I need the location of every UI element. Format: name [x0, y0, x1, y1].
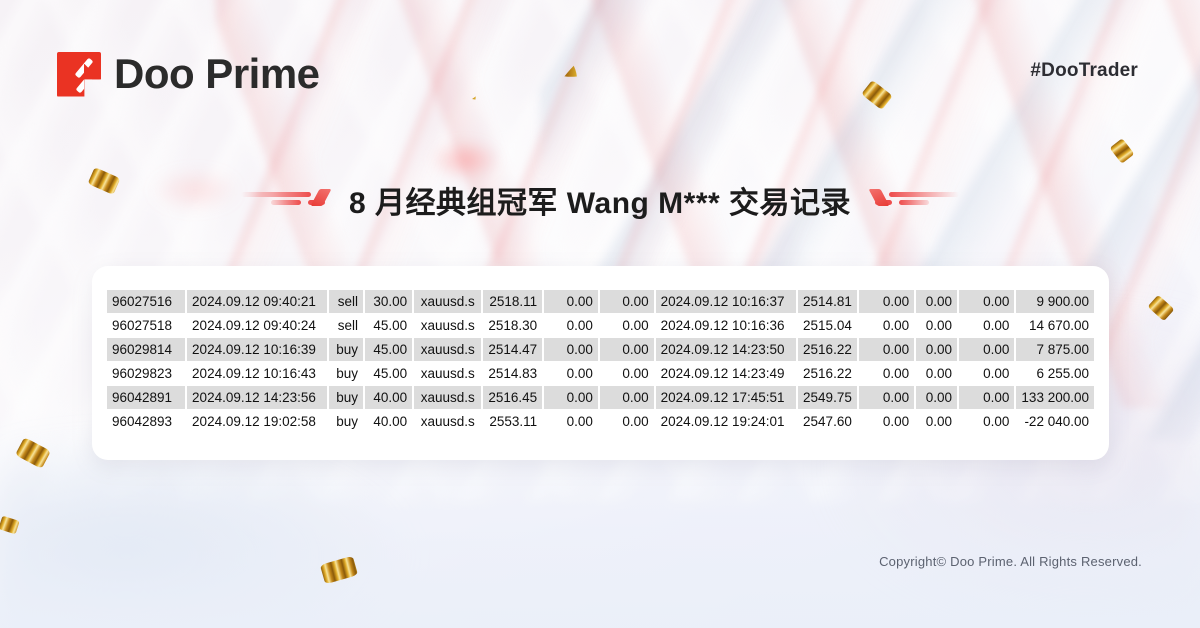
cell-symbol: xauusd.s — [414, 338, 481, 361]
cell-type: sell — [329, 290, 363, 313]
cell-commission: 0.00 — [859, 338, 914, 361]
cell-swap: 0.00 — [959, 314, 1014, 337]
confetti-shape — [861, 80, 893, 110]
confetti-shape — [1110, 138, 1135, 164]
gold-ribbon-strip-10 — [15, 437, 51, 469]
gold-ribbon-strip-5 — [1110, 138, 1135, 164]
red-glow-spot — [430, 140, 500, 180]
confetti-shape — [27, 449, 57, 477]
cell-open-price: 2514.83 — [483, 362, 542, 385]
cell-type: buy — [329, 410, 363, 433]
doo-prime-mark-icon — [57, 52, 101, 97]
confetti-shape — [15, 437, 51, 469]
table-row: 960428912024.09.12 14:23:56buy40.00xauus… — [107, 386, 1094, 409]
cell-ticket: 96027516 — [107, 290, 185, 313]
cell-symbol: xauusd.s — [414, 314, 481, 337]
cell-ticket: 96042891 — [107, 386, 185, 409]
cell-close-time: 2024.09.12 19:24:01 — [656, 410, 796, 433]
cell-open-price: 2518.30 — [483, 314, 542, 337]
title-decoration-left-icon — [241, 187, 325, 213]
cell-open-time: 2024.09.12 09:40:24 — [187, 314, 327, 337]
cell-ticket: 96027518 — [107, 314, 185, 337]
gold-ribbon-curl-6 — [1067, 226, 1100, 253]
gold-ribbon-curl-15 — [338, 569, 364, 592]
cell-taxes: 0.00 — [916, 338, 957, 361]
cell-close-price: 2549.75 — [798, 386, 857, 409]
brand-logo: Doo Prime — [57, 50, 320, 98]
page-title: 8 月经典组冠军 Wang M*** 交易记录 — [349, 178, 851, 222]
cell-t-p: 0.00 — [600, 290, 654, 313]
confetti-shape — [436, 60, 480, 99]
trade-history-table: 960275162024.09.12 09:40:21sell30.00xauu… — [105, 289, 1096, 434]
cell-s-l: 0.00 — [544, 386, 598, 409]
table-row: 960428932024.09.12 19:02:58buy40.00xauus… — [107, 410, 1094, 433]
cell-volume: 45.00 — [365, 314, 412, 337]
copyright-text: Copyright© Doo Prime. All Rights Reserve… — [879, 554, 1142, 569]
table-row: 960275182024.09.12 09:40:24sell45.00xauu… — [107, 314, 1094, 337]
cell-swap: 0.00 — [959, 410, 1014, 433]
cell-ticket: 96029814 — [107, 338, 185, 361]
gold-ribbon-curl-11 — [27, 449, 57, 477]
cell-close-time: 2024.09.12 10:16:37 — [656, 290, 796, 313]
cell-t-p: 0.00 — [600, 362, 654, 385]
cell-close-price: 2516.22 — [798, 362, 857, 385]
gold-ribbon-curl-13 — [56, 561, 79, 594]
cell-symbol: xauusd.s — [414, 386, 481, 409]
cell-open-price: 2514.47 — [483, 338, 542, 361]
cell-s-l: 0.00 — [544, 410, 598, 433]
cell-open-price: 2518.11 — [483, 290, 542, 313]
confetti-shape — [1155, 464, 1191, 497]
cell-profit: 6 255.00 — [1016, 362, 1094, 385]
gold-ribbon-strip-12 — [0, 516, 20, 535]
cell-commission: 0.00 — [859, 386, 914, 409]
cell-s-l: 0.00 — [544, 314, 598, 337]
cell-close-price: 2514.81 — [798, 290, 857, 313]
gold-ribbon-curl-1 — [436, 60, 480, 99]
confetti-shape — [320, 556, 358, 585]
cell-type: buy — [329, 362, 363, 385]
cell-volume: 45.00 — [365, 362, 412, 385]
cell-close-price: 2516.22 — [798, 338, 857, 361]
gold-ribbon-strip-14 — [320, 556, 358, 585]
gold-ribbon-curl-17 — [1155, 464, 1191, 497]
table-row: 960298232024.09.12 10:16:43buy45.00xauus… — [107, 362, 1094, 385]
cell-profit: 14 670.00 — [1016, 314, 1094, 337]
cell-volume: 40.00 — [365, 410, 412, 433]
poster-title-row: 8 月经典组冠军 Wang M*** 交易记录 — [0, 178, 1200, 222]
cell-taxes: 0.00 — [916, 386, 957, 409]
cell-commission: 0.00 — [859, 314, 914, 337]
cell-commission: 0.00 — [859, 410, 914, 433]
cell-close-time: 2024.09.12 10:16:36 — [656, 314, 796, 337]
cell-close-time: 2024.09.12 17:45:51 — [656, 386, 796, 409]
gold-ribbon-curl-4 — [1094, 130, 1124, 160]
confetti-shape — [0, 516, 20, 535]
gold-ribbon-curl-16 — [921, 581, 965, 618]
cell-ticket: 96042893 — [107, 410, 185, 433]
cell-volume: 40.00 — [365, 386, 412, 409]
confetti-shape — [921, 581, 965, 618]
cell-symbol: xauusd.s — [414, 410, 481, 433]
cell-commission: 0.00 — [859, 290, 914, 313]
cell-type: buy — [329, 386, 363, 409]
cell-t-p: 0.00 — [600, 386, 654, 409]
cell-symbol: xauusd.s — [414, 362, 481, 385]
cell-open-price: 2553.11 — [483, 410, 542, 433]
cell-taxes: 0.00 — [916, 410, 957, 433]
cell-swap: 0.00 — [959, 338, 1014, 361]
cell-volume: 30.00 — [365, 290, 412, 313]
cell-ticket: 96029823 — [107, 362, 185, 385]
cell-open-time: 2024.09.12 14:23:56 — [187, 386, 327, 409]
confetti-shape — [1067, 226, 1100, 253]
cell-taxes: 0.00 — [916, 290, 957, 313]
cell-profit: 7 875.00 — [1016, 338, 1094, 361]
cell-t-p: 0.00 — [600, 314, 654, 337]
cell-close-time: 2024.09.12 14:23:49 — [656, 362, 796, 385]
cell-symbol: xauusd.s — [414, 290, 481, 313]
gold-ribbon-strip-18 — [1147, 295, 1174, 322]
cell-commission: 0.00 — [859, 362, 914, 385]
cell-open-price: 2516.45 — [483, 386, 542, 409]
confetti-shape — [338, 569, 364, 592]
cell-type: sell — [329, 314, 363, 337]
cell-open-time: 2024.09.12 10:16:43 — [187, 362, 327, 385]
gold-ribbon-strip-3 — [861, 80, 893, 110]
table-row: 960275162024.09.12 09:40:21sell30.00xauu… — [107, 290, 1094, 313]
cell-volume: 45.00 — [365, 338, 412, 361]
cell-profit: -22 040.00 — [1016, 410, 1094, 433]
cell-s-l: 0.00 — [544, 290, 598, 313]
cell-profit: 9 900.00 — [1016, 290, 1094, 313]
cell-open-time: 2024.09.12 09:40:21 — [187, 290, 327, 313]
cell-t-p: 0.00 — [600, 338, 654, 361]
cell-type: buy — [329, 338, 363, 361]
cell-taxes: 0.00 — [916, 362, 957, 385]
cell-close-price: 2547.60 — [798, 410, 857, 433]
brand-name: Doo Prime — [114, 50, 320, 98]
title-decoration-right-icon — [875, 187, 959, 213]
confetti-shape — [1147, 295, 1174, 322]
cell-open-time: 2024.09.12 10:16:39 — [187, 338, 327, 361]
campaign-hashtag: #DooTrader — [1030, 60, 1138, 82]
gold-ribbon-curl-2 — [527, 39, 577, 82]
cell-swap: 0.00 — [959, 386, 1014, 409]
cell-s-l: 0.00 — [544, 362, 598, 385]
cell-s-l: 0.00 — [544, 338, 598, 361]
cell-close-time: 2024.09.12 14:23:50 — [656, 338, 796, 361]
cell-open-time: 2024.09.12 19:02:58 — [187, 410, 327, 433]
cell-taxes: 0.00 — [916, 314, 957, 337]
cell-swap: 0.00 — [959, 362, 1014, 385]
confetti-shape — [1094, 130, 1124, 160]
logo-slash-upper — [75, 57, 94, 78]
cell-profit: 133 200.00 — [1016, 386, 1094, 409]
trade-record-card: 960275162024.09.12 09:40:21sell30.00xauu… — [92, 266, 1109, 460]
cell-close-price: 2515.04 — [798, 314, 857, 337]
confetti-shape — [56, 561, 79, 594]
table-row: 960298142024.09.12 10:16:39buy45.00xauus… — [107, 338, 1094, 361]
cell-swap: 0.00 — [959, 290, 1014, 313]
poster-canvas: Doo Prime #DooTrader 8 月经典组冠军 Wang M*** … — [0, 0, 1200, 628]
confetti-shape — [527, 39, 577, 82]
cell-t-p: 0.00 — [600, 410, 654, 433]
